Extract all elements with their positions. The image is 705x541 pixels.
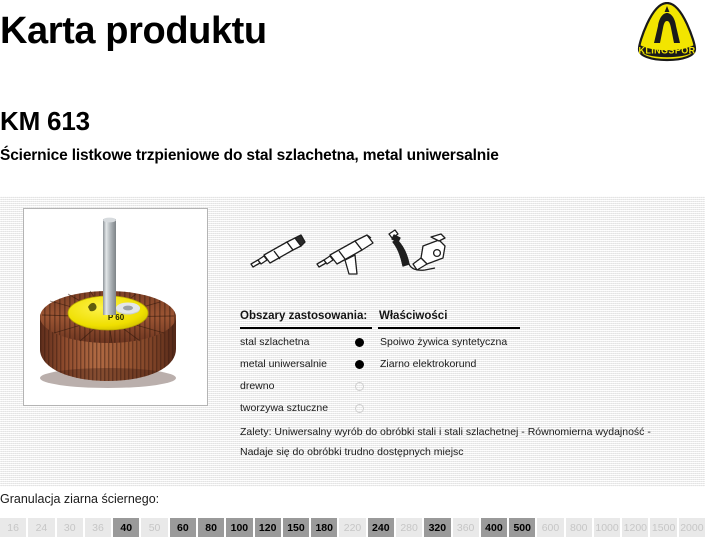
spec-table-body: stal szlachetna Spoiwo żywica syntetyczn… — [240, 332, 525, 420]
application-bullet-empty — [355, 404, 364, 413]
product-description: Ściernice listkowe trzpieniowe do stal s… — [0, 148, 499, 164]
application-bullet-filled — [355, 360, 364, 369]
application-label: tworzywa sztuczne — [240, 402, 328, 414]
drill-icon — [317, 235, 373, 274]
properties-header: Właściwości — [379, 310, 447, 322]
flap-wheel-photo: P 60 — [24, 209, 207, 405]
product-photo-frame: P 60 — [23, 208, 208, 406]
grain-cell-120[interactable]: 120 — [255, 518, 281, 537]
machine-icons — [243, 224, 448, 279]
table-row: tworzywa sztuczne — [240, 398, 525, 420]
table-row: drewno — [240, 376, 525, 398]
grain-cell-280[interactable]: 280 — [396, 518, 422, 537]
grain-section-label: Granulacja ziarna ściernego: — [0, 492, 159, 506]
grain-cell-1000[interactable]: 1000 — [594, 518, 620, 537]
grain-cell-600[interactable]: 600 — [537, 518, 563, 537]
applications-rule — [240, 327, 372, 329]
grain-cell-16[interactable]: 16 — [0, 518, 26, 537]
property-label: Ziarno elektrokorund — [380, 358, 476, 370]
grain-size-row: 1624303640506080100120150180220240280320… — [0, 518, 705, 537]
application-label: drewno — [240, 380, 274, 392]
benefits-text: Zalety: Uniwersalny wyrób do obróbki sta… — [240, 422, 685, 462]
application-bullet-filled — [355, 338, 364, 347]
grain-cell-240[interactable]: 240 — [368, 518, 394, 537]
page-title: Karta produktu — [0, 12, 267, 50]
application-label: metal uniwersalnie — [240, 358, 327, 370]
grain-cell-1200[interactable]: 1200 — [622, 518, 648, 537]
table-row: metal uniwersalnie Ziarno elektrokorund — [240, 354, 525, 376]
grain-cell-30[interactable]: 30 — [57, 518, 83, 537]
grain-cell-2000[interactable]: 2000 — [679, 518, 705, 537]
property-label: Spoiwo żywica syntetyczna — [380, 336, 507, 348]
grain-cell-40[interactable]: 40 — [113, 518, 139, 537]
grain-cell-220[interactable]: 220 — [339, 518, 365, 537]
grain-cell-800[interactable]: 800 — [566, 518, 592, 537]
grain-cell-400[interactable]: 400 — [481, 518, 507, 537]
klingspor-logo: KLINGSPOR — [634, 2, 700, 62]
spec-table: Obszary zastosowania: Właściwości stal s… — [240, 310, 525, 332]
grain-cell-36[interactable]: 36 — [85, 518, 111, 537]
content-panel: P 60 — [0, 196, 705, 487]
straight-grinder-icon — [251, 235, 305, 267]
properties-rule — [378, 327, 520, 329]
application-bullet-empty — [355, 382, 364, 391]
applications-header: Obszary zastosowania: — [240, 310, 367, 322]
grain-cell-24[interactable]: 24 — [28, 518, 54, 537]
product-code: KM 613 — [0, 108, 90, 134]
grain-cell-360[interactable]: 360 — [453, 518, 479, 537]
flexible-shaft-tool-icon — [389, 230, 445, 270]
grain-cell-100[interactable]: 100 — [226, 518, 252, 537]
grain-cell-50[interactable]: 50 — [141, 518, 167, 537]
grain-cell-320[interactable]: 320 — [424, 518, 450, 537]
grain-cell-1500[interactable]: 1500 — [650, 518, 676, 537]
svg-text:KLINGSPOR: KLINGSPOR — [638, 45, 695, 55]
table-row: stal szlachetna Spoiwo żywica syntetyczn… — [240, 332, 525, 354]
grain-cell-150[interactable]: 150 — [283, 518, 309, 537]
grain-cell-60[interactable]: 60 — [170, 518, 196, 537]
spec-table-header: Obszary zastosowania: Właściwości — [240, 310, 525, 332]
grain-cell-500[interactable]: 500 — [509, 518, 535, 537]
grain-cell-180[interactable]: 180 — [311, 518, 337, 537]
grain-cell-80[interactable]: 80 — [198, 518, 224, 537]
application-label: stal szlachetna — [240, 336, 309, 348]
page-header: Karta produktu KM 613 Ściernice listkowe… — [0, 0, 705, 196]
